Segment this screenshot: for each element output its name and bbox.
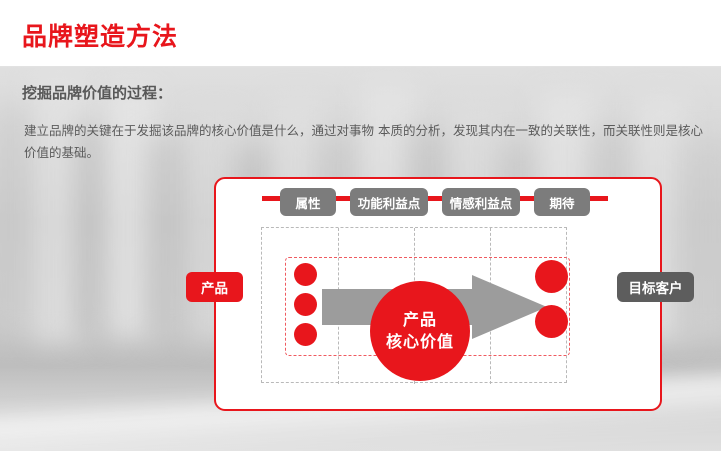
core-value-line2: 核心价值 [386, 331, 454, 353]
chain-connector [520, 196, 534, 201]
stage-box-emotional-benefit[interactable]: 情感利益点 [442, 188, 520, 216]
section-subtitle: 挖掘品牌价值的过程： [22, 82, 172, 104]
stage-box-expectation[interactable]: 期待 [534, 188, 590, 216]
output-dot [535, 260, 568, 293]
callout-target-customer[interactable]: 目标客户 [617, 272, 694, 302]
chain-connector [262, 196, 280, 201]
output-dot [535, 305, 568, 338]
slide-canvas: 品牌塑造方法 挖掘品牌价值的过程： 建立品牌的关键在于发掘该品牌的核心价值是什么… [0, 0, 721, 451]
page-title: 品牌塑造方法 [22, 22, 178, 52]
chain-connector [336, 196, 350, 201]
chain-connector [590, 196, 608, 201]
stage-box-attribute[interactable]: 属性 [280, 188, 336, 216]
core-value-line1: 产品 [403, 309, 437, 331]
input-dot [294, 323, 317, 346]
input-dot [294, 263, 317, 286]
core-value-circle[interactable]: 产品 核心价值 [370, 281, 470, 381]
stage-box-functional-benefit[interactable]: 功能利益点 [350, 188, 428, 216]
section-body-text: 建立品牌的关键在于发掘该品牌的核心价值是什么，通过对事物 本质的分析，发现其内在… [24, 120, 704, 164]
callout-product[interactable]: 产品 [186, 272, 243, 302]
chain-connector [428, 196, 442, 201]
slide-header: 品牌塑造方法 [0, 0, 721, 67]
input-dot [294, 293, 317, 316]
